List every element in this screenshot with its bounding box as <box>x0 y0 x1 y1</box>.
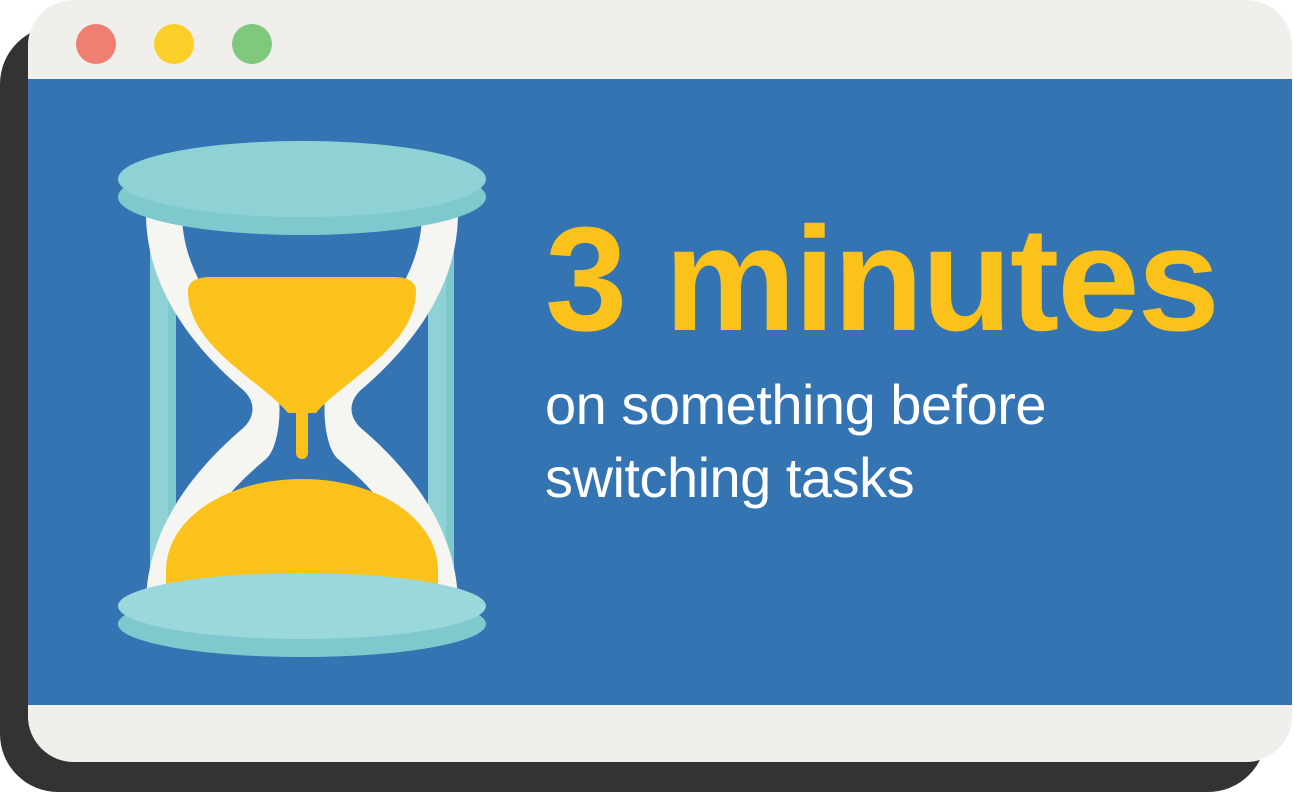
window-controls <box>76 24 272 64</box>
screenshot-stage: 3 minutes on something before switching … <box>0 0 1294 792</box>
text-block: 3 minutes on something before switching … <box>545 209 1205 515</box>
hourglass-cap-top <box>118 141 486 237</box>
hourglass-cap-top-face <box>118 141 486 217</box>
maximize-button[interactable] <box>232 24 272 64</box>
subtitle-line-1: on something before <box>545 369 1205 442</box>
hourglass-sand-stream <box>296 331 308 459</box>
window-footer-strip <box>28 705 1292 762</box>
headline: 3 minutes <box>545 209 1205 351</box>
close-button[interactable] <box>76 24 116 64</box>
hourglass-cap-bottom-face <box>118 573 486 639</box>
subtitle: on something before switching tasks <box>545 369 1205 515</box>
window-titlebar <box>28 0 1292 79</box>
hourglass-cap-bottom <box>118 573 486 661</box>
hourglass-icon <box>118 141 486 661</box>
browser-window: 3 minutes on something before switching … <box>28 0 1292 762</box>
minimize-button[interactable] <box>154 24 194 64</box>
content-canvas: 3 minutes on something before switching … <box>28 79 1292 705</box>
subtitle-line-2: switching tasks <box>545 442 1205 515</box>
